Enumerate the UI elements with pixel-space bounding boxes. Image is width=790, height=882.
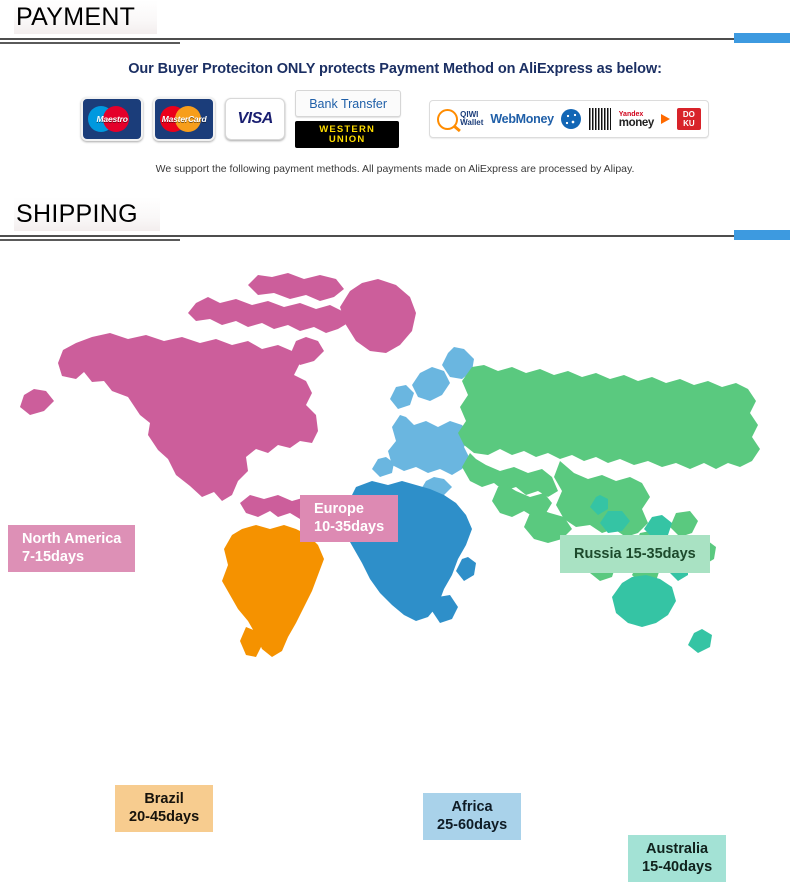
payment-note: We support the following payment methods… (0, 163, 790, 175)
header-divider-short (0, 239, 180, 241)
doku-label-line2: KU (683, 119, 695, 128)
shipping-section-header: SHIPPING (0, 197, 790, 241)
header-divider-long (0, 38, 790, 40)
header-divider-long (0, 235, 790, 237)
payment-methods-row: Maestro MasterCard VISA Bank Transfer WE… (0, 91, 790, 147)
header-divider-short (0, 42, 180, 44)
mastercard-label: MasterCard (155, 114, 213, 124)
yandex-label-line2: money (619, 119, 654, 127)
payment-section: PAYMENT Our Buyer Proteciton ONLY protec… (0, 0, 790, 175)
doku-logo: DO KU (677, 108, 701, 130)
western-union-label-line2: UNION (329, 135, 366, 145)
header-accent-bar (734, 33, 790, 43)
payment-section-title: PAYMENT (14, 0, 157, 34)
shipping-label-africa: Africa 25-60days (423, 793, 521, 840)
western-union-logo: WESTERN UNION (295, 121, 399, 148)
shipping-label-australia: Australia 15-40days (628, 835, 726, 882)
payment-section-header: PAYMENT (0, 0, 790, 44)
qiwi-mark-icon (437, 109, 458, 130)
visa-label: VISA (237, 110, 272, 128)
bank-transfer-logo: Bank Transfer (295, 90, 401, 117)
header-accent-bar (734, 230, 790, 240)
qiwi-label-line2: Wallet (460, 119, 483, 128)
map-region-greenland (340, 279, 416, 353)
shipping-label-europe: Europe 10-35days (300, 495, 398, 542)
western-union-label-line1: WESTERN (319, 125, 375, 135)
yandex-money-logo: Yandex money (619, 111, 654, 127)
map-region-south-america (222, 525, 324, 657)
world-map-svg (0, 245, 790, 658)
maestro-logo: Maestro (81, 97, 143, 141)
visa-logo: VISA (225, 98, 285, 140)
shipping-label-brazil: Brazil 20-45days (115, 785, 213, 832)
boleto-barcode-logo (588, 107, 612, 131)
webmoney-logo: WebMoney (490, 112, 553, 126)
map-region-europe (372, 347, 474, 499)
qiwi-wallet-logo: QIWI Wallet (437, 109, 483, 130)
shipping-label-north-america: North America 7-15days (8, 525, 135, 572)
yandex-arrow-icon (661, 114, 670, 124)
shipping-label-russia: Russia 15-35days (560, 535, 710, 573)
map-region-north-america (20, 273, 348, 519)
world-shipping-map: North America 7-15days Europe 10-35days … (0, 245, 790, 658)
qiwi-label: QIWI Wallet (460, 111, 483, 128)
doku-label-line1: DO (683, 110, 695, 119)
dotpay-logo (561, 109, 581, 129)
mastercard-logo: MasterCard (153, 97, 215, 141)
bank-transfer-western-union-group: Bank Transfer WESTERN UNION (295, 90, 401, 148)
shipping-section: SHIPPING (0, 197, 790, 658)
payment-headline: Our Buyer Proteciton ONLY protects Payme… (0, 61, 790, 77)
maestro-label: Maestro (83, 114, 141, 124)
shipping-section-title: SHIPPING (14, 197, 160, 231)
alternate-payment-methods-strip: QIWI Wallet WebMoney Yandex money DO KU (429, 100, 709, 138)
